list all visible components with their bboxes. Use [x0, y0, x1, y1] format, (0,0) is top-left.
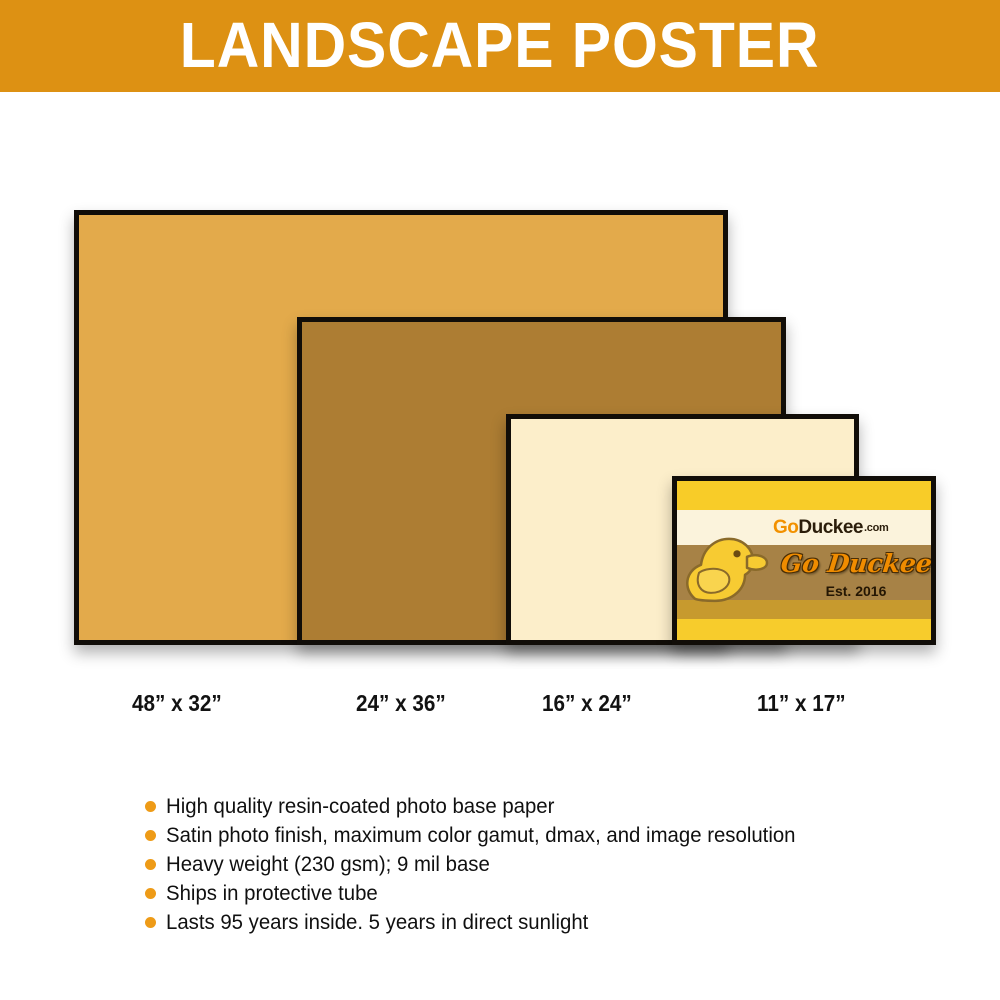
size-label-row: 48” x 32” 24” x 36” 16” x 24” 11” x 17”: [0, 690, 1000, 730]
size-label-48x32: 48” x 32”: [132, 690, 222, 717]
bullet-icon: [145, 801, 156, 812]
size-label-16x24: 16” x 24”: [542, 690, 632, 717]
logo-stripe-top: [677, 481, 931, 510]
list-item: Lasts 95 years inside. 5 years in direct…: [145, 909, 945, 938]
logo-established: Est. 2016: [773, 581, 931, 600]
goduckee-logo: GoDuckee.com Go Duckee Est. 2016: [677, 481, 931, 640]
page-title: LANDSCAPE POSTER: [180, 13, 820, 77]
list-item: Heavy weight (230 gsm); 9 mil base: [145, 851, 945, 880]
list-item: Satin photo finish, maximum color gamut,…: [145, 822, 945, 851]
wordmark-com: .com: [864, 522, 888, 534]
header-banner: LANDSCAPE POSTER: [0, 0, 1000, 92]
feature-text: Heavy weight (230 gsm); 9 mil base: [166, 851, 490, 879]
logo-established-label: Est. 2016: [826, 583, 887, 599]
logo-script-label: Go Duckee: [779, 549, 931, 578]
bullet-icon: [145, 830, 156, 841]
feature-text: High quality resin-coated photo base pap…: [166, 793, 554, 821]
feature-text: Lasts 95 years inside. 5 years in direct…: [166, 909, 588, 937]
feature-text: Satin photo finish, maximum color gamut,…: [166, 822, 796, 850]
size-label-11x17: 11” x 17”: [757, 690, 846, 717]
list-item: Ships in protective tube: [145, 880, 945, 909]
feature-list: High quality resin-coated photo base pap…: [145, 793, 945, 938]
bullet-icon: [145, 888, 156, 899]
wordmark-duckee: Duckee: [798, 517, 863, 539]
feature-text: Ships in protective tube: [166, 880, 378, 908]
poster-size-infographic: LANDSCAPE POSTER: [0, 0, 1000, 1000]
logo-wordmark: GoDuckee.com: [773, 513, 931, 543]
rubber-duck-icon: [681, 508, 773, 626]
logo-script-text: Go Duckee: [773, 545, 931, 583]
poster-size-diagram: GoDuckee.com Go Duckee Est. 2016: [0, 92, 1000, 672]
list-item: High quality resin-coated photo base pap…: [145, 793, 945, 822]
size-label-24x36: 24” x 36”: [356, 690, 446, 717]
wordmark-go: Go: [773, 517, 798, 539]
bullet-icon: [145, 859, 156, 870]
poster-rect-11x17[interactable]: GoDuckee.com Go Duckee Est. 2016: [672, 476, 936, 645]
bullet-icon: [145, 917, 156, 928]
